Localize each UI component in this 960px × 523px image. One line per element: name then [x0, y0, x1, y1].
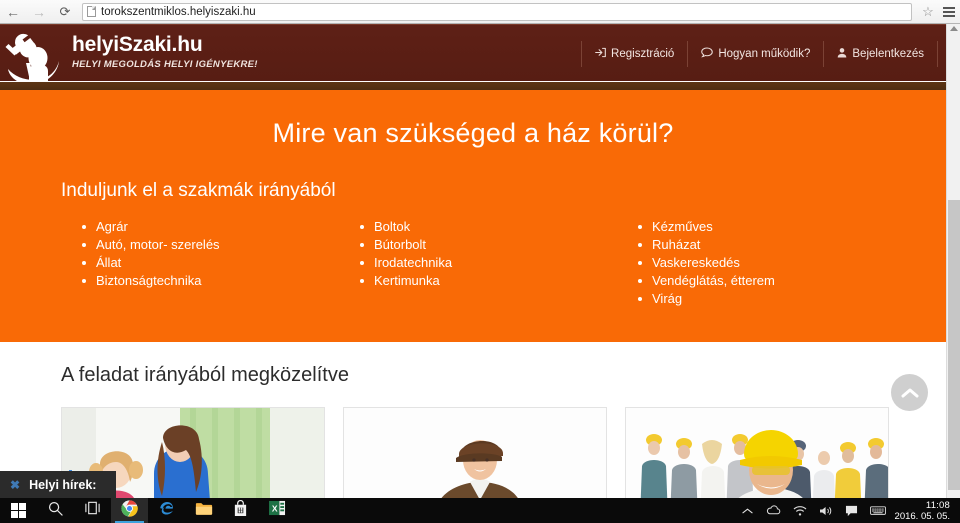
forward-arrow-icon[interactable]: → — [26, 0, 52, 24]
back-arrow-icon[interactable]: ← — [0, 0, 26, 24]
search-button[interactable] — [37, 498, 74, 523]
scrollbar-up-arrow-icon[interactable] — [950, 26, 958, 31]
screen: ← → ⟳ torokszentmiklos.helyiszaki.hu ☆ — [0, 0, 960, 523]
list-item[interactable]: Bútorbolt — [356, 236, 634, 254]
chrome-icon — [121, 500, 138, 522]
list-item[interactable]: Boltok — [356, 218, 634, 236]
chevron-up-icon — [901, 386, 919, 400]
file-explorer-button[interactable] — [185, 498, 222, 523]
browser-toolbar: ← → ⟳ torokszentmiklos.helyiszaki.hu ☆ — [0, 0, 960, 24]
list-item[interactable]: Kézműves — [634, 218, 912, 236]
store-button[interactable] — [222, 498, 259, 523]
nav-item-label: Bejelentkezés — [852, 48, 924, 60]
nav-item-hogyan-mukodik[interactable]: Hogyan működik? — [687, 41, 823, 67]
task-card[interactable] — [625, 407, 889, 499]
excel-icon: X — [269, 500, 286, 521]
cloud-icon[interactable] — [761, 498, 787, 523]
list-item[interactable]: Vendéglátás, étterem — [634, 272, 912, 290]
hero-section: Mire van szükséged a ház körül? Induljun… — [0, 90, 946, 342]
task-card[interactable] — [343, 407, 607, 499]
star-icon[interactable]: ☆ — [918, 4, 938, 20]
user-icon — [837, 47, 847, 61]
page-scrollbar[interactable] — [946, 24, 960, 499]
page-document-icon — [87, 6, 96, 17]
page-title: Mire van szükséged a ház körül? — [0, 118, 946, 149]
comment-icon — [701, 47, 713, 61]
nav-item-label: Regisztráció — [611, 48, 674, 60]
hero-subtitle: Induljunk el a szakmák irányából — [61, 180, 946, 202]
sign-in-icon — [595, 47, 606, 61]
address-bar-text: torokszentmiklos.helyiszaki.hu — [101, 6, 256, 18]
nav-item-regisztracio[interactable]: Regisztráció — [581, 41, 687, 67]
task-cards — [0, 387, 946, 499]
close-x-icon[interactable]: ✖ — [7, 478, 29, 492]
notification-tail — [102, 472, 116, 498]
list-item[interactable]: Irodatechnika — [356, 254, 634, 272]
page-viewport: helyiSzaki.hu HELYI MEGOLDÁS HELYI IGÉNY… — [0, 24, 960, 499]
tasks-section: A feladat irányából megközelítve — [0, 342, 946, 499]
profession-column-2: Boltok Bútorbolt Irodatechnika Kertimunk… — [356, 218, 634, 308]
show-hidden-icons-button[interactable] — [735, 498, 761, 523]
site-header: helyiSzaki.hu HELYI MEGOLDÁS HELYI IGÉNY… — [0, 24, 946, 81]
photo-group-of-construction-workers — [626, 408, 888, 499]
photo-smiling-handyman-brown-cap — [344, 408, 606, 499]
wifi-icon[interactable] — [787, 498, 813, 523]
brand-tagline: HELYI MEGOLDÁS HELYI IGÉNYEKRE! — [72, 59, 258, 70]
list-item[interactable]: Ruházat — [634, 236, 912, 254]
brand[interactable]: helyiSzaki.hu HELYI MEGOLDÁS HELYI IGÉNY… — [72, 33, 258, 70]
profession-column-1: Agrár Autó, motor- szerelés Állat Bizton… — [78, 218, 356, 308]
svg-text:X: X — [272, 503, 278, 513]
section-title: A feladat irányából megközelítve — [61, 364, 946, 387]
keyboard-icon[interactable] — [865, 498, 891, 523]
speaker-icon[interactable] — [813, 498, 839, 523]
start-button[interactable] — [0, 498, 37, 523]
windows-logo-icon — [11, 503, 26, 518]
reload-icon[interactable]: ⟳ — [52, 0, 78, 24]
list-item[interactable]: Autó, motor- szerelés — [78, 236, 356, 254]
web-page: helyiSzaki.hu HELYI MEGOLDÁS HELYI IGÉNY… — [0, 24, 946, 499]
task-view-button[interactable] — [74, 498, 111, 523]
profession-columns: Agrár Autó, motor- szerelés Állat Bizton… — [0, 218, 946, 308]
news-notification-bar: ✖ Helyi hírek: — [0, 471, 116, 498]
list-item[interactable]: Virág — [634, 290, 912, 308]
system-tray: 11:08 2016. 05. 05. — [735, 498, 960, 523]
scroll-to-top-button[interactable] — [891, 374, 928, 411]
news-notification-label: Helyi hírek: — [29, 478, 96, 492]
wrench-person-logo-icon[interactable] — [4, 24, 66, 87]
scrollbar-thumb[interactable] — [948, 200, 960, 490]
address-bar[interactable]: torokszentmiklos.helyiszaki.hu — [82, 3, 912, 21]
list-item[interactable]: Agrár — [78, 218, 356, 236]
taskbar-clock[interactable]: 11:08 2016. 05. 05. — [891, 500, 956, 522]
list-item[interactable]: Kertimunka — [356, 272, 634, 290]
hamburger-menu-icon[interactable] — [938, 7, 960, 17]
action-center-icon[interactable] — [839, 498, 865, 523]
list-item[interactable]: Állat — [78, 254, 356, 272]
profession-column-3: Kézműves Ruházat Vaskereskedés Vendéglát… — [634, 218, 912, 308]
folder-icon — [195, 501, 213, 521]
edge-icon — [158, 500, 175, 522]
windows-taskbar: X 11:08 2016. 05. 05. — [0, 498, 960, 523]
list-item[interactable]: Biztonságtechnika — [78, 272, 356, 290]
store-bag-icon — [233, 500, 248, 522]
header-nav: Regisztráció Hogyan működik? Bejelentkez… — [581, 41, 938, 67]
clock-time: 11:08 — [895, 500, 950, 511]
task-view-icon — [84, 501, 101, 520]
nav-item-label: Hogyan működik? — [718, 48, 810, 60]
excel-button[interactable]: X — [259, 498, 296, 523]
search-icon — [48, 501, 63, 521]
nav-item-bejelentkezes[interactable]: Bejelentkezés — [823, 41, 938, 67]
chrome-button[interactable] — [111, 498, 148, 523]
list-item[interactable]: Vaskereskedés — [634, 254, 912, 272]
edge-button[interactable] — [148, 498, 185, 523]
clock-date: 2016. 05. 05. — [895, 511, 950, 522]
brand-title: helyiSzaki.hu — [72, 33, 258, 56]
